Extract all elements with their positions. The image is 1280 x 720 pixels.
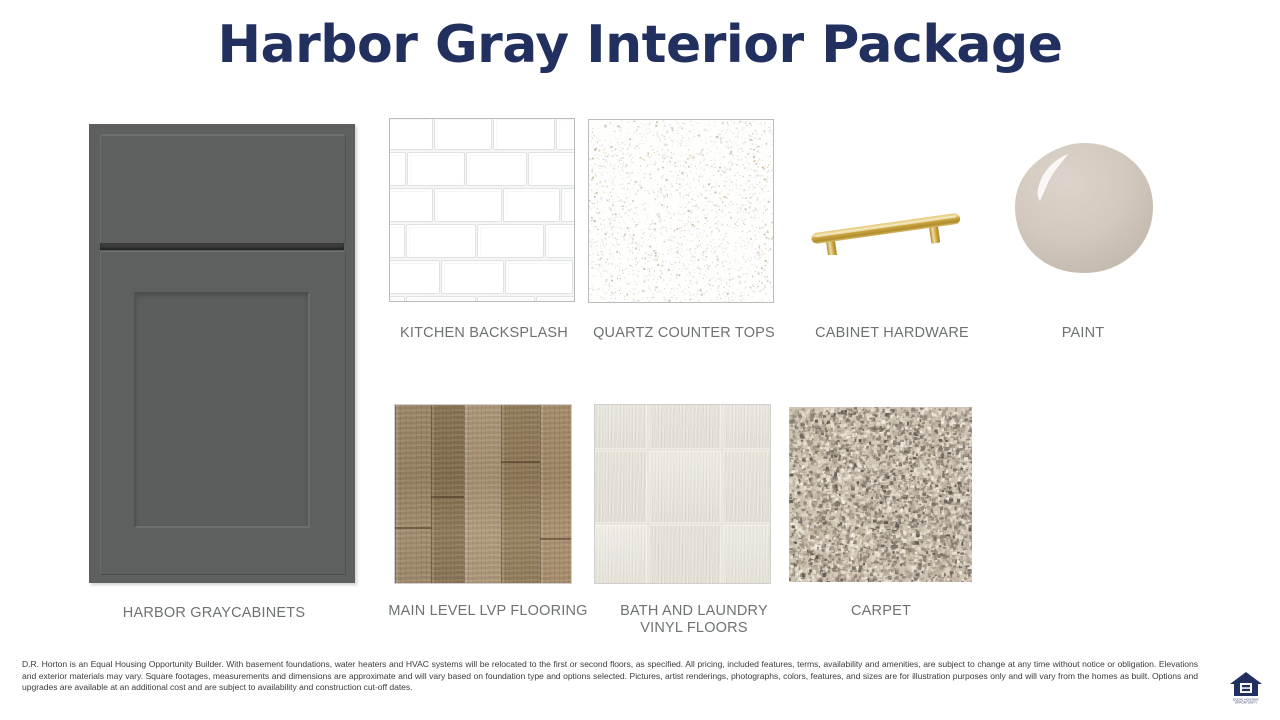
subway-tile (435, 118, 491, 149)
plank-seam (540, 538, 572, 540)
paint-blob-icon (1013, 141, 1155, 275)
subway-tile (557, 118, 575, 149)
page-title: Harbor Gray Interior Package (0, 14, 1280, 76)
subway-tile (408, 153, 464, 185)
subway-tile (494, 118, 554, 149)
quartz-speckle-texture (589, 120, 773, 302)
plank-seam (395, 527, 431, 529)
swatch-cabinet-hardware[interactable] (805, 175, 980, 255)
equal-housing-opportunity-logo: EQUAL HOUSING OPPORTUNITY (1228, 669, 1264, 705)
subway-tile (407, 297, 475, 302)
bar-pull-icon (805, 175, 980, 255)
legal-disclaimer: D.R. Horton is an Equal Housing Opportun… (22, 659, 1198, 694)
vinyl-tile (723, 404, 771, 449)
subway-tile (537, 297, 575, 302)
subway-tile (546, 225, 575, 257)
label-carpet: CARPET (783, 603, 979, 620)
wood-plank (431, 405, 464, 583)
cabinet-drawer-front (100, 134, 346, 244)
wood-plank (464, 405, 500, 583)
cabinet-reveal-gap (100, 243, 344, 250)
label-quartz-counter-tops: QUARTZ COUNTER TOPS (584, 325, 784, 342)
cabinet-door-front (100, 251, 346, 575)
subway-tile (389, 261, 439, 293)
wood-plank (540, 405, 572, 583)
vinyl-tile (594, 451, 647, 523)
subway-tile (562, 189, 575, 221)
vinyl-tile (649, 404, 721, 449)
vinyl-tile (723, 451, 771, 523)
swatch-carpet[interactable] (789, 407, 972, 582)
wood-plank (395, 405, 431, 583)
subway-tile (478, 297, 534, 302)
swatch-main-level-lvp-flooring[interactable] (394, 404, 572, 584)
wood-plank (501, 405, 540, 583)
subway-tile (467, 153, 526, 185)
subway-tile (389, 297, 404, 302)
swatch-quartz-counter-tops[interactable] (588, 119, 774, 303)
subway-tile (389, 153, 405, 185)
label-kitchen-backsplash: KITCHEN BACKSPLASH (384, 325, 584, 342)
subway-tile (506, 261, 572, 293)
subway-tile (407, 225, 475, 257)
subway-tile (529, 153, 575, 185)
vinyl-tile (649, 525, 721, 584)
subway-tile (389, 225, 404, 257)
label-main-level-lvp-flooring: MAIN LEVEL LVP FLOORING (382, 603, 594, 620)
equal-housing-icon: EQUAL HOUSING OPPORTUNITY (1228, 669, 1264, 705)
subway-tile (442, 261, 503, 293)
label-line-2: VINYL FLOORS (592, 620, 796, 637)
vinyl-tile (594, 404, 647, 449)
swatch-paint[interactable] (1013, 141, 1155, 275)
swatch-bath-and-laundry-vinyl-floors[interactable] (594, 404, 771, 584)
swatch-kitchen-backsplash[interactable] (389, 118, 575, 302)
vinyl-tile (723, 525, 771, 584)
subway-tile (504, 189, 559, 221)
subway-tile (478, 225, 543, 257)
label-harbor-gray-cabinets: HARBOR GRAYCABINETS (89, 605, 339, 622)
vinyl-tile (594, 525, 647, 584)
label-paint: PAINT (1008, 325, 1158, 342)
label-line-1: BATH AND LAUNDRY (592, 603, 796, 620)
plank-seam (431, 496, 464, 498)
carpet-fleck-texture (789, 407, 972, 582)
label-cabinet-hardware: CABINET HARDWARE (792, 325, 992, 342)
swatch-harbor-gray-cabinets[interactable] (89, 124, 355, 583)
vinyl-tile (649, 451, 721, 523)
subway-tile (389, 118, 432, 149)
subway-tile (389, 189, 432, 221)
cabinet-recessed-panel (134, 292, 310, 528)
plank-seam (501, 461, 540, 463)
subway-tile (435, 189, 501, 221)
label-bath-and-laundry-vinyl-floors: BATH AND LAUNDRY VINYL FLOORS (592, 603, 796, 637)
